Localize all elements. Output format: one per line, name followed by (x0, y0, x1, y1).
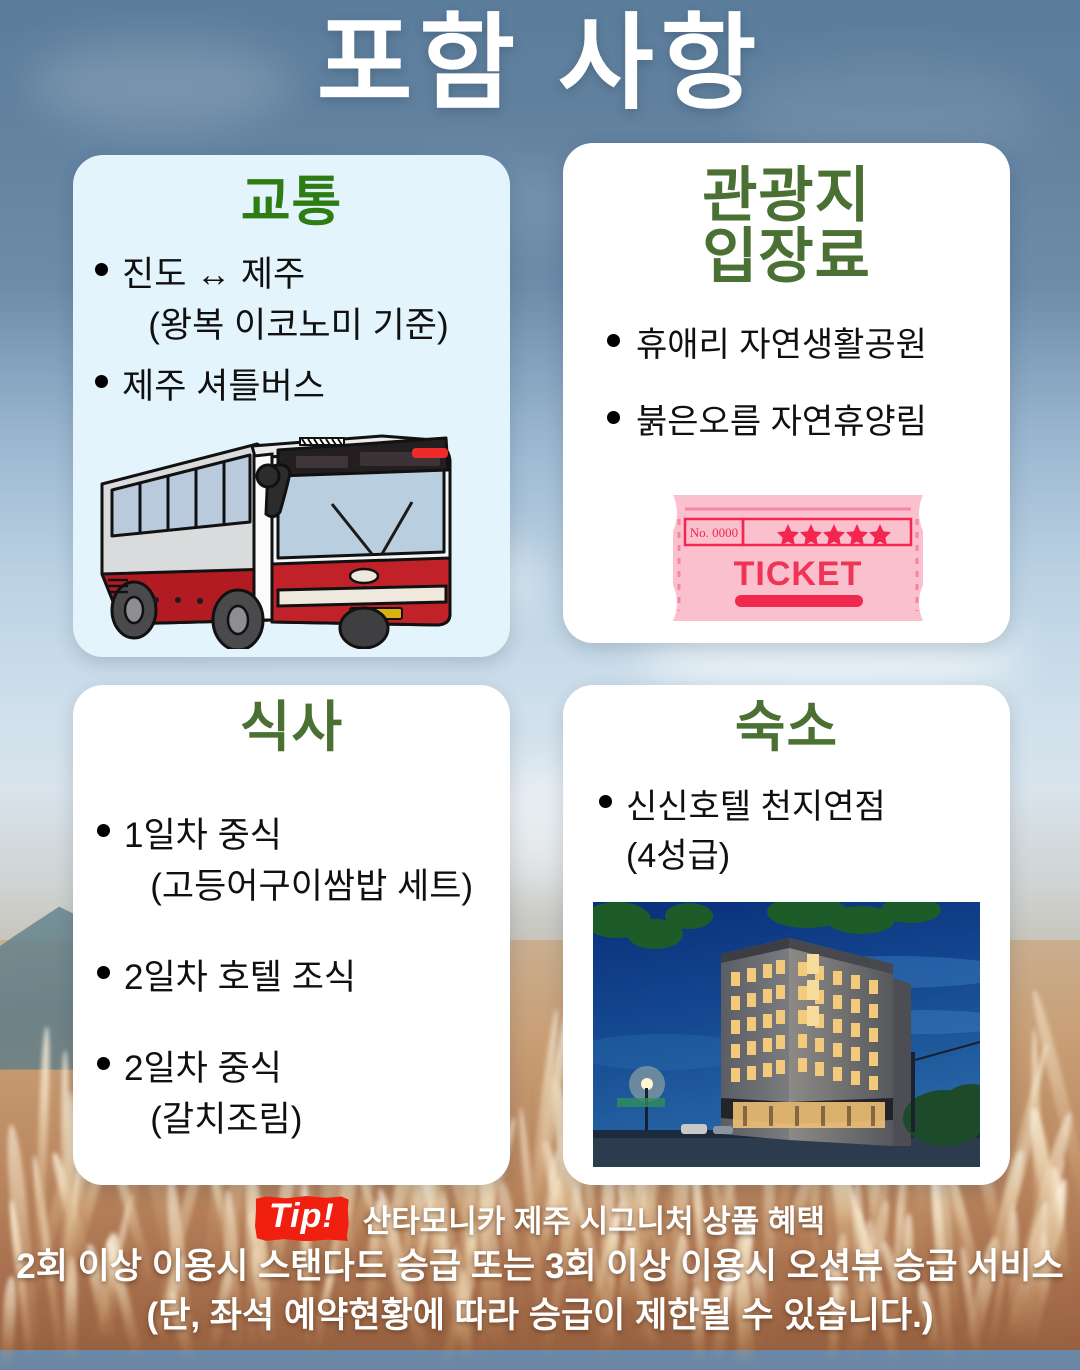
list-item-sub: (4성급) (626, 828, 1010, 877)
page-title: 포함 사항 (0, 6, 1080, 122)
card-title-line2: 입장료 (702, 223, 871, 290)
list-item-main: 붉은오름 자연휴양림 (636, 394, 1010, 443)
card-lodging: 숙소 신신호텔 천지연점 (4성급) (563, 685, 1010, 1185)
tip-headline: 산타모니카 제주 시그니처 상품 혜택 (363, 1196, 825, 1241)
list-item-main: 휴애리 자연생활공원 (636, 317, 1010, 366)
list-item: 붉은오름 자연휴양림 (607, 394, 1010, 443)
bullet-dot-icon (95, 375, 108, 388)
list-item-sub: (왕복 이코노미 기준) (122, 297, 510, 348)
list-item-main: 제주 셔틀버스 (122, 367, 325, 406)
lodging-list: 신신호텔 천지연점 (4성급) (599, 779, 1010, 877)
list-item-main: 1일차 중식 (124, 816, 282, 855)
bullet-dot-icon (97, 966, 110, 979)
list-item: 신신호텔 천지연점 (4성급) (599, 779, 1010, 877)
meals-list: 1일차 중식 (고등어구이쌈밥 세트) 2일차 호텔 조식 2일차 중식 (갈치… (97, 807, 510, 1142)
tip-line-3: (단, 좌석 예약현황에 따라 승급이 제한될 수 있습니다.) (0, 1294, 1080, 1339)
list-item-main: 신신호텔 천지연점 (626, 788, 886, 826)
ticket-word: TICKET (734, 555, 863, 593)
bullet-dot-icon (97, 1057, 110, 1070)
tip-line-2: 2회 이상 이용시 스탠다드 승급 또는 3회 이상 이용시 오션뷰 승급 서비… (0, 1245, 1080, 1290)
list-item: 휴애리 자연생활공원 (607, 317, 1010, 366)
card-title-line1: 관광지 (702, 162, 871, 229)
card-title-admission: 관광지 입장료 (563, 143, 1010, 287)
list-item: 2일차 중식 (갈치조림) (97, 1040, 510, 1142)
ticket-number: No. 0000 (690, 525, 738, 540)
card-admission: 관광지 입장료 휴애리 자연생활공원 붉은오름 자연휴양림 No. 0000 (563, 143, 1010, 643)
list-item-sub: (갈치조림) (124, 1091, 510, 1142)
bullet-dot-icon (607, 334, 620, 347)
transport-list: 진도 ↔ 제주 (왕복 이코노미 기준) 제주 셔틀버스 (95, 246, 510, 409)
card-title-lodging: 숙소 (563, 685, 1010, 755)
card-title-transport: 교통 (73, 155, 510, 230)
card-title-meals: 식사 (73, 685, 510, 755)
list-item-sub: (고등어구이쌈밥 세트) (124, 858, 510, 909)
hotel-photo (593, 902, 980, 1167)
admission-list: 휴애리 자연생활공원 붉은오름 자연휴양림 (607, 317, 1010, 443)
card-meals: 식사 1일차 중식 (고등어구이쌈밥 세트) 2일차 호텔 조식 2일차 중식 … (73, 685, 510, 1185)
list-item-main: 2일차 중식 (124, 1049, 282, 1088)
bullet-dot-icon (599, 795, 612, 808)
bullet-dot-icon (95, 263, 108, 276)
list-item-main: 2일차 호텔 조식 (124, 949, 510, 1000)
card-transport: 교통 진도 ↔ 제주 (왕복 이코노미 기준) 제주 셔틀버스 (73, 155, 510, 657)
list-item: 1일차 중식 (고등어구이쌈밥 세트) (97, 807, 510, 909)
bus-icon (81, 424, 503, 649)
tip-badge: Tip! (255, 1196, 349, 1241)
bullet-dot-icon (97, 824, 110, 837)
bullet-dot-icon (607, 411, 620, 424)
list-item: 2일차 호텔 조식 (97, 949, 510, 1000)
list-item: 제주 셔틀버스 (95, 358, 510, 409)
list-item: 진도 ↔ 제주 (왕복 이코노미 기준) (95, 246, 510, 348)
list-item-main: 진도 ↔ 제주 (122, 255, 305, 294)
ticket-icon: No. 0000 TICKET (663, 493, 933, 623)
tip-section: Tip! 산타모니카 제주 시그니처 상품 혜택 2회 이상 이용시 스탠다드 … (0, 1196, 1080, 1346)
tip-headline-row: Tip! 산타모니카 제주 시그니처 상품 혜택 (0, 1196, 1080, 1241)
